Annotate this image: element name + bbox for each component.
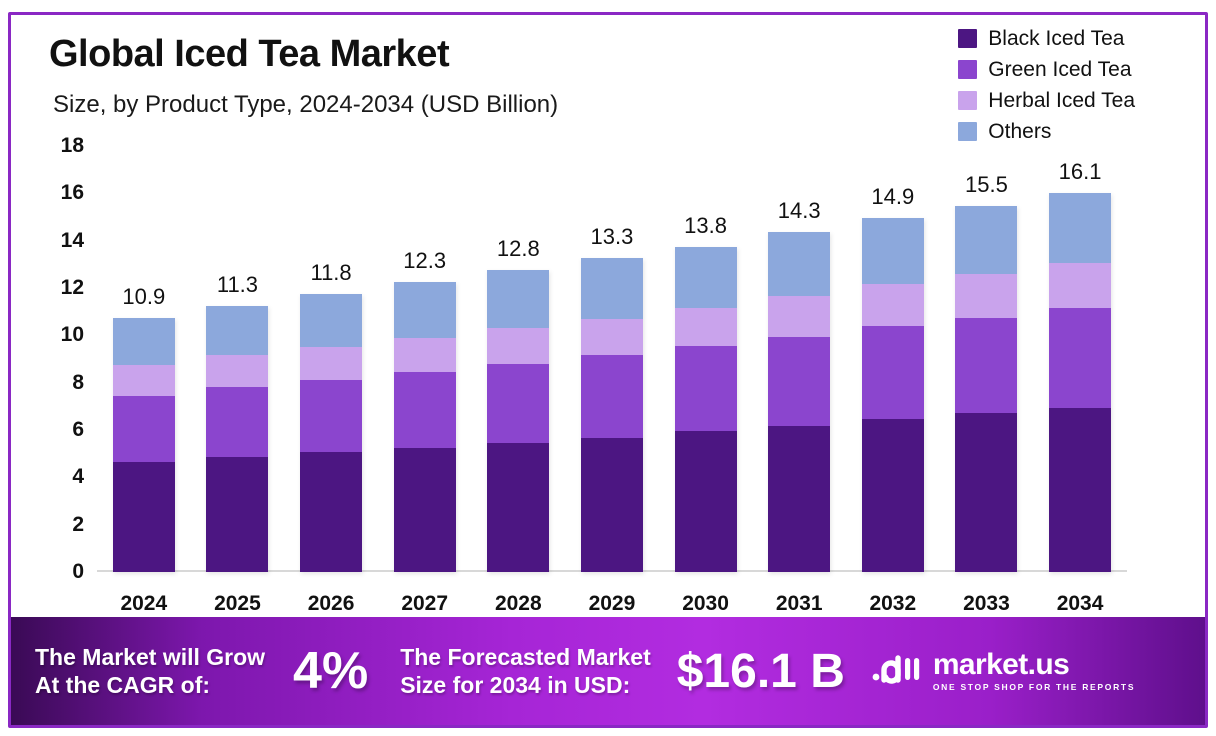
bar-total-label: 12.8 (497, 236, 540, 262)
bar-series-container: 10.9202411.3202511.8202612.3202712.82028… (97, 146, 1127, 572)
bar-group-2032[interactable]: 14.92032 (862, 146, 924, 572)
y-tick-label-0: 0 (72, 560, 84, 584)
forecast-value-block: $16.1 B (677, 644, 845, 699)
y-tick-label-12: 12 (61, 276, 84, 300)
legend-item-label: Herbal Iced Tea (988, 89, 1135, 113)
legend-swatch-icon (958, 122, 977, 141)
bar-segment-herbal-iced-tea[interactable] (955, 274, 1017, 318)
bar-group-2034[interactable]: 16.12034 (1049, 146, 1111, 572)
x-tick-label-2025: 2025 (214, 592, 261, 616)
bar-group-2033[interactable]: 15.52033 (955, 146, 1017, 572)
y-tick-label-14: 14 (61, 229, 84, 253)
bar-segment-others[interactable] (675, 247, 737, 309)
bar-segment-others[interactable] (113, 318, 175, 365)
bar-stack (581, 258, 643, 572)
y-tick-label-4: 4 (72, 465, 84, 489)
bar-group-2026[interactable]: 11.82026 (300, 146, 362, 572)
bar-total-label: 13.3 (591, 224, 634, 250)
bar-stack (394, 282, 456, 572)
bar-segment-black-iced-tea[interactable] (300, 452, 362, 572)
x-tick-label-2028: 2028 (495, 592, 542, 616)
page-subtitle: Size, by Product Type, 2024-2034 (USD Bi… (53, 91, 558, 119)
bar-total-label: 12.3 (403, 248, 446, 274)
bar-segment-green-iced-tea[interactable] (487, 364, 549, 443)
x-tick-label-2030: 2030 (682, 592, 729, 616)
forecast-caption-line2: Size for 2034 in USD: (400, 671, 651, 699)
legend-swatch-icon (958, 60, 977, 79)
x-tick-label-2033: 2033 (963, 592, 1010, 616)
bar-stack (1049, 193, 1111, 572)
plot-area: 024681012141618 10.9202411.3202511.82026… (97, 146, 1127, 572)
bar-stack (862, 218, 924, 572)
x-tick-label-2027: 2027 (401, 592, 448, 616)
bar-segment-others[interactable] (955, 206, 1017, 273)
forecast-caption-line1: The Forecasted Market (400, 643, 651, 671)
chart-frame: Global Iced Tea Market Size, by Product … (8, 12, 1208, 728)
bar-segment-herbal-iced-tea[interactable] (300, 347, 362, 380)
y-tick-label-18: 18 (61, 134, 84, 158)
bar-segment-black-iced-tea[interactable] (1049, 408, 1111, 572)
bar-segment-green-iced-tea[interactable] (1049, 308, 1111, 407)
forecast-caption-block: The Forecasted Market Size for 2034 in U… (400, 643, 651, 699)
bar-segment-herbal-iced-tea[interactable] (675, 308, 737, 346)
bar-segment-black-iced-tea[interactable] (113, 462, 175, 572)
bar-segment-others[interactable] (768, 232, 830, 296)
bar-segment-black-iced-tea[interactable] (862, 419, 924, 572)
y-tick-label-8: 8 (72, 371, 84, 395)
y-tick-label-16: 16 (61, 181, 84, 205)
legend-swatch-icon (958, 91, 977, 110)
market-us-logo[interactable]: market.us ONE STOP SHOP FOR THE REPORTS (871, 650, 1135, 693)
bar-total-label: 10.9 (122, 284, 165, 310)
bar-group-2028[interactable]: 12.82028 (487, 146, 549, 572)
legend-item-2[interactable]: Herbal Iced Tea (958, 89, 1135, 112)
cagr-caption-block: The Market will Grow At the CAGR of: (35, 643, 265, 699)
forecast-value: $16.1 B (677, 644, 845, 699)
page-title: Global Iced Tea Market (49, 33, 449, 76)
bar-total-label: 13.8 (684, 213, 727, 239)
bar-segment-herbal-iced-tea[interactable] (768, 296, 830, 336)
bar-segment-herbal-iced-tea[interactable] (206, 355, 268, 387)
bar-total-label: 15.5 (965, 172, 1008, 198)
market-us-wordmark: market.us ONE STOP SHOP FOR THE REPORTS (933, 650, 1135, 692)
bar-segment-herbal-iced-tea[interactable] (394, 338, 456, 372)
bar-group-2030[interactable]: 13.82030 (675, 146, 737, 572)
bar-segment-herbal-iced-tea[interactable] (113, 365, 175, 396)
bar-segment-others[interactable] (581, 258, 643, 318)
bar-total-label: 11.3 (217, 272, 258, 298)
bar-segment-green-iced-tea[interactable] (768, 337, 830, 427)
bar-stack (206, 306, 268, 572)
legend-item-label: Others (988, 120, 1051, 144)
bar-segment-others[interactable] (487, 270, 549, 328)
cagr-caption-line1: The Market will Grow (35, 643, 265, 671)
bar-segment-others[interactable] (862, 218, 924, 284)
cagr-caption-line2: At the CAGR of: (35, 671, 265, 699)
bar-stack (955, 206, 1017, 572)
chart-legend: Black Iced TeaGreen Iced TeaHerbal Iced … (958, 27, 1135, 143)
bar-segment-others[interactable] (394, 282, 456, 338)
bar-segment-green-iced-tea[interactable] (206, 387, 268, 457)
bar-total-label: 14.3 (778, 198, 821, 224)
x-tick-label-2034: 2034 (1057, 592, 1104, 616)
bar-stack (300, 294, 362, 572)
bar-group-2029[interactable]: 13.32029 (581, 146, 643, 572)
y-tick-label-10: 10 (61, 323, 84, 347)
legend-item-label: Black Iced Tea (988, 27, 1124, 51)
bar-segment-others[interactable] (1049, 193, 1111, 263)
bar-segment-herbal-iced-tea[interactable] (1049, 263, 1111, 308)
market-us-mark-icon (871, 650, 923, 693)
bottom-banner: The Market will Grow At the CAGR of: 4% … (11, 617, 1205, 725)
bar-segment-green-iced-tea[interactable] (394, 372, 456, 448)
bar-segment-black-iced-tea[interactable] (394, 448, 456, 572)
x-tick-label-2029: 2029 (589, 592, 636, 616)
chart-area: Global Iced Tea Market Size, by Product … (11, 15, 1205, 629)
bar-segment-green-iced-tea[interactable] (300, 380, 362, 452)
bar-segment-black-iced-tea[interactable] (768, 426, 830, 572)
bar-segment-green-iced-tea[interactable] (581, 355, 643, 438)
bar-segment-herbal-iced-tea[interactable] (862, 284, 924, 325)
y-tick-label-6: 6 (72, 418, 84, 442)
bar-segment-green-iced-tea[interactable] (955, 318, 1017, 414)
bar-total-label: 11.8 (310, 260, 351, 286)
bar-segment-others[interactable] (206, 306, 268, 356)
y-tick-label-2: 2 (72, 513, 84, 537)
legend-item-3[interactable]: Others (958, 120, 1135, 143)
bar-segment-green-iced-tea[interactable] (675, 346, 737, 431)
bar-group-2025[interactable]: 11.32025 (206, 146, 268, 572)
bar-total-label: 16.1 (1059, 159, 1102, 185)
bar-segment-others[interactable] (300, 294, 362, 347)
bar-segment-black-iced-tea[interactable] (581, 438, 643, 572)
bar-segment-black-iced-tea[interactable] (206, 457, 268, 572)
bar-group-2031[interactable]: 14.32031 (768, 146, 830, 572)
cagr-caption: The Market will Grow At the CAGR of: (35, 643, 265, 699)
x-tick-label-2031: 2031 (776, 592, 823, 616)
x-tick-label-2024: 2024 (120, 592, 167, 616)
logo-name: market.us (933, 650, 1135, 680)
bar-segment-green-iced-tea[interactable] (113, 396, 175, 462)
cagr-value-block: 4% (293, 641, 368, 701)
bar-segment-herbal-iced-tea[interactable] (581, 319, 643, 356)
bar-segment-black-iced-tea[interactable] (487, 443, 549, 572)
legend-item-label: Green Iced Tea (988, 58, 1131, 82)
legend-item-0[interactable]: Black Iced Tea (958, 27, 1135, 50)
legend-item-1[interactable]: Green Iced Tea (958, 58, 1135, 81)
bar-total-label: 14.9 (871, 184, 914, 210)
bar-stack (487, 270, 549, 572)
bar-stack (113, 318, 175, 572)
x-tick-label-2032: 2032 (869, 592, 916, 616)
bar-segment-herbal-iced-tea[interactable] (487, 328, 549, 364)
x-tick-label-2026: 2026 (308, 592, 355, 616)
bar-segment-black-iced-tea[interactable] (675, 431, 737, 572)
legend-swatch-icon (958, 29, 977, 48)
bar-stack (768, 232, 830, 572)
bar-group-2027[interactable]: 12.32027 (394, 146, 456, 572)
cagr-value: 4% (293, 641, 368, 701)
bar-segment-green-iced-tea[interactable] (862, 326, 924, 419)
forecast-caption: The Forecasted Market Size for 2034 in U… (400, 643, 651, 699)
bar-segment-black-iced-tea[interactable] (955, 413, 1017, 572)
infographic-root: Global Iced Tea Market Size, by Product … (0, 0, 1216, 736)
bar-group-2024[interactable]: 10.92024 (113, 146, 175, 572)
bar-stack (675, 247, 737, 572)
logo-tagline: ONE STOP SHOP FOR THE REPORTS (933, 683, 1135, 692)
